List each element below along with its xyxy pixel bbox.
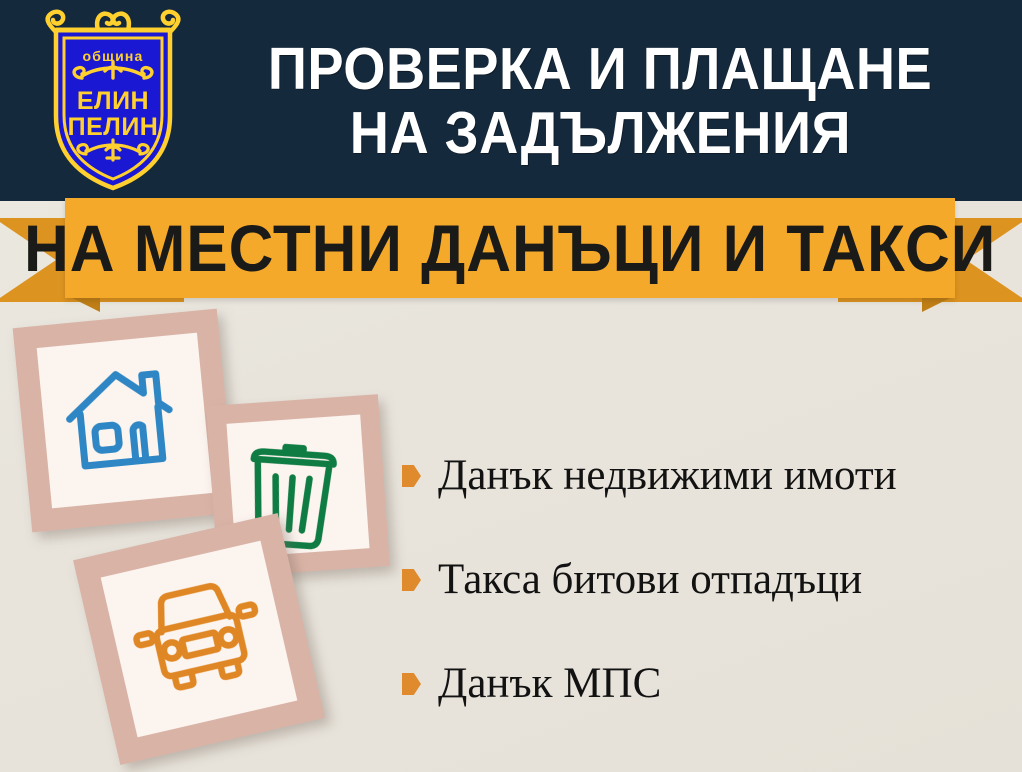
list-item-label: Такса битови отпадъци: [438, 557, 862, 602]
svg-text:ЕЛИН: ЕЛИН: [77, 87, 149, 115]
page-title: ПРОВЕРКА И ПЛАЩАНЕ НА ЗАДЪЛЖЕНИЯ: [190, 14, 1010, 189]
subtitle-ribbon: НА МЕСТНИ ДАНЪЦИ И ТАКСИ: [0, 198, 1022, 310]
list-item-label: Данък недвижими имоти: [438, 453, 897, 498]
arrow-bullet-icon: [402, 569, 421, 591]
arrow-bullet-icon: [402, 673, 421, 695]
ribbon-label: НА МЕСТНИ ДАНЪЦИ И ТАКСИ: [24, 215, 996, 281]
poster-canvas: община ЕЛИН ПЕЛИН: [0, 0, 1022, 772]
page-title-line-1: ПРОВЕРКА И ПЛАЩАНЕ: [268, 39, 932, 100]
stamp-card-house: [13, 309, 237, 533]
ribbon-banner: НА МЕСТНИ ДАНЪЦИ И ТАКСИ: [65, 198, 955, 298]
list-item[interactable]: Данък МПС: [402, 632, 1002, 736]
svg-text:ПЕЛИН: ПЕЛИН: [68, 113, 159, 141]
list-item-label: Данък МПС: [438, 661, 661, 706]
list-item[interactable]: Такса битови отпадъци: [402, 528, 1002, 632]
page-title-line-2: НА ЗАДЪЛЖЕНИЯ: [349, 103, 850, 164]
municipality-emblem-icon: община ЕЛИН ПЕЛИН: [38, 8, 188, 193]
stamp-scallop-border: [13, 309, 237, 533]
header-bar: община ЕЛИН ПЕЛИН: [0, 0, 1022, 201]
arrow-bullet-icon: [402, 465, 421, 487]
tax-type-list: Данък недвижими имоти Такса битови отпад…: [402, 424, 1002, 736]
list-item[interactable]: Данък недвижими имоти: [402, 424, 1002, 528]
